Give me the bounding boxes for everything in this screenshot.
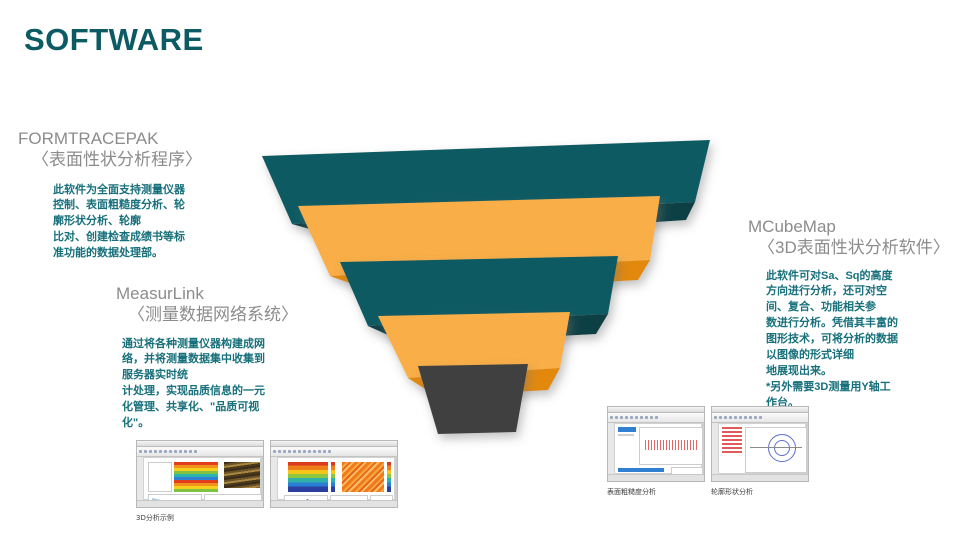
mcubemap-body-line: 间、复合、功能相关参 [766, 300, 946, 316]
thumb-statusbar [271, 500, 397, 507]
mini-surface-map [342, 462, 384, 492]
mcubemap-body-line: 此软件可对Sa、Sq的高度 [766, 269, 946, 285]
thumb-toolbar [137, 447, 263, 457]
thumb-toolbar [712, 413, 808, 423]
measurlink-heading: MeasurLink 〈测量数据网络系统〉 [100, 283, 320, 326]
mini-colorbar [331, 462, 335, 492]
mcubemap-body-line: *另外需要3D测量用Y轴工 [766, 380, 946, 396]
thumbnail-group-3d-analysis: 3D分析示例 [136, 440, 398, 523]
mini-heightmap [288, 462, 328, 492]
formtracepak-heading: FORMTRACEPAK 〈表面性状分析程序〉 [18, 128, 248, 171]
measurlink-body: 通过将各种测量仪器构建成网 络，并将测量数据集中收集到 服务器实时统 计处理，实… [100, 337, 282, 433]
mini-contour-plot [745, 427, 807, 473]
mcubemap-body-line: 方向进行分析，还可对空 [766, 284, 946, 300]
text-block-measurlink: MeasurLink 〈测量数据网络系统〉 通过将各种测量仪器构建成网 络，并将… [100, 283, 320, 432]
mini-red-trace [643, 440, 699, 450]
formtracepak-body-line: 廓形状分析、轮廓 [53, 214, 243, 230]
mini-profile-plot [639, 427, 703, 465]
measurlink-body-line: 计处理，实现品质信息的一元 [122, 384, 282, 400]
thumbnail-caption-surface-roughness: 表面粗糙度分析 [607, 487, 705, 497]
thumb-toolbar [271, 447, 397, 457]
thumbnail-caption-contour-shape: 轮廓形状分析 [711, 487, 809, 497]
measurlink-body-line: 络，并将测量数据集中收集到 [122, 352, 282, 368]
thumbnail-contour-shape[interactable] [711, 406, 809, 482]
thumb-statusbar [137, 500, 263, 507]
slide-canvas: SOFTWARE [0, 0, 960, 540]
formtracepak-body-line: 此软件为全面支持测量仪器 [53, 183, 243, 199]
formtracepak-body-line: 比对、创建检查成绩书等标 [53, 230, 243, 246]
formtracepak-name: FORMTRACEPAK [18, 129, 158, 148]
mcubemap-body-line: 图形技术，可将分析的数据 [766, 332, 946, 348]
thumbnail-3d-analysis-1[interactable] [136, 440, 264, 508]
formtracepak-body-line: 控制、表面粗糙度分析、轮 [53, 198, 243, 214]
thumbnail-3d-analysis-2[interactable] [270, 440, 398, 508]
mcubemap-body-line: 以图像的形式详细 [766, 348, 946, 364]
thumb-canvas [277, 457, 395, 500]
thumb-canvas [614, 423, 702, 474]
mini-axis [750, 447, 802, 448]
thumb-toolbar [608, 413, 704, 423]
thumb-canvas [143, 457, 261, 500]
measurlink-subtitle: 〈测量数据网络系统〉 [116, 304, 320, 325]
measurlink-body-line: 化"。 [122, 416, 282, 432]
thumbnail-group-analysis: 表面粗糙度分析 轮廓形状分析 [607, 406, 809, 497]
measurlink-body-line: 化管理、共享化、"品质可视 [122, 400, 282, 416]
mini-rainbow-map [174, 462, 218, 492]
measurlink-body-line: 通过将各种测量仪器构建成网 [122, 337, 282, 353]
mini-param-list [722, 427, 742, 453]
mini-result-bar [618, 468, 664, 472]
mini-texture-map [224, 462, 260, 488]
measurlink-name: MeasurLink [116, 284, 204, 303]
funnel-band-5 [418, 364, 528, 434]
mcubemap-body: 此软件可对Sa、Sq的高度 方向进行分析，还可对空 间、复合、功能相关参 数进行… [748, 269, 946, 412]
mini-circle-inner [774, 440, 790, 456]
mcubemap-body-line: 地展现出来。 [766, 364, 946, 380]
page-title: SOFTWARE [24, 22, 204, 58]
measurlink-body-line: 服务器实时统 [122, 368, 282, 384]
mini-list-row [618, 434, 634, 436]
thumbnail-caption-3d-analysis: 3D分析示例 [136, 513, 398, 523]
mcubemap-subtitle: 〈3D表面性状分析软件〉 [748, 237, 960, 258]
formtracepak-subtitle: 〈表面性状分析程序〉 [18, 149, 248, 170]
formtracepak-body: 此软件为全面支持测量仪器 控制、表面粗糙度分析、轮 廓形状分析、轮廓 比对、创建… [18, 183, 243, 263]
thumbnail-surface-roughness[interactable] [607, 406, 705, 482]
formtracepak-body-line: 准功能的数据处理部。 [53, 246, 243, 262]
mcubemap-name: MCubeMap [748, 217, 836, 236]
mini-colorbar [387, 462, 391, 492]
text-block-mcubemap: MCubeMap 〈3D表面性状分析软件〉 此软件可对Sa、Sq的高度 方向进行… [748, 216, 960, 412]
mcubemap-body-line: 数进行分析。凭借其丰富的 [766, 316, 946, 332]
mini-table [148, 462, 172, 492]
thumb-statusbar [608, 474, 704, 481]
thumb-canvas [718, 423, 806, 474]
mcubemap-heading: MCubeMap 〈3D表面性状分析软件〉 [748, 216, 960, 259]
mini-selected-item [618, 427, 636, 432]
thumb-statusbar [712, 474, 808, 481]
text-block-formtracepak: FORMTRACEPAK 〈表面性状分析程序〉 此软件为全面支持测量仪器 控制、… [18, 128, 248, 262]
